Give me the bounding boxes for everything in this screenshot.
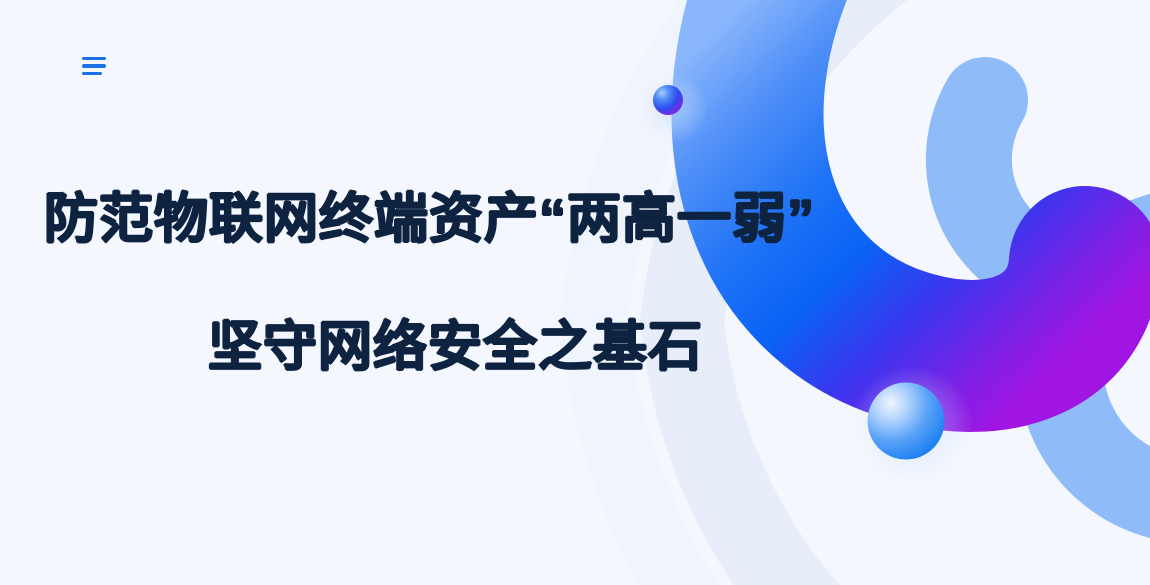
hamburger-bar-top: [82, 57, 106, 61]
large-sphere-glow: [850, 366, 974, 490]
small-sphere-glow: [640, 74, 708, 142]
slide-canvas: 防范物联网终端资产“两高一弱” 坚守网络安全之基石: [0, 0, 1150, 585]
page-title: 防范物联网终端资产“两高一弱” 坚守网络安全之基石: [0, 186, 1150, 380]
page-title-line-1: 防范物联网终端资产“两高一弱”: [0, 186, 1150, 252]
large-blue-sphere: [868, 383, 945, 460]
page-title-line-2: 坚守网络安全之基石: [0, 314, 1150, 380]
hamburger-bar-bottom: [82, 72, 102, 76]
hamburger-menu-icon[interactable]: [82, 50, 114, 82]
hamburger-bar-middle: [82, 64, 106, 68]
small-gradient-sphere: [653, 85, 683, 115]
